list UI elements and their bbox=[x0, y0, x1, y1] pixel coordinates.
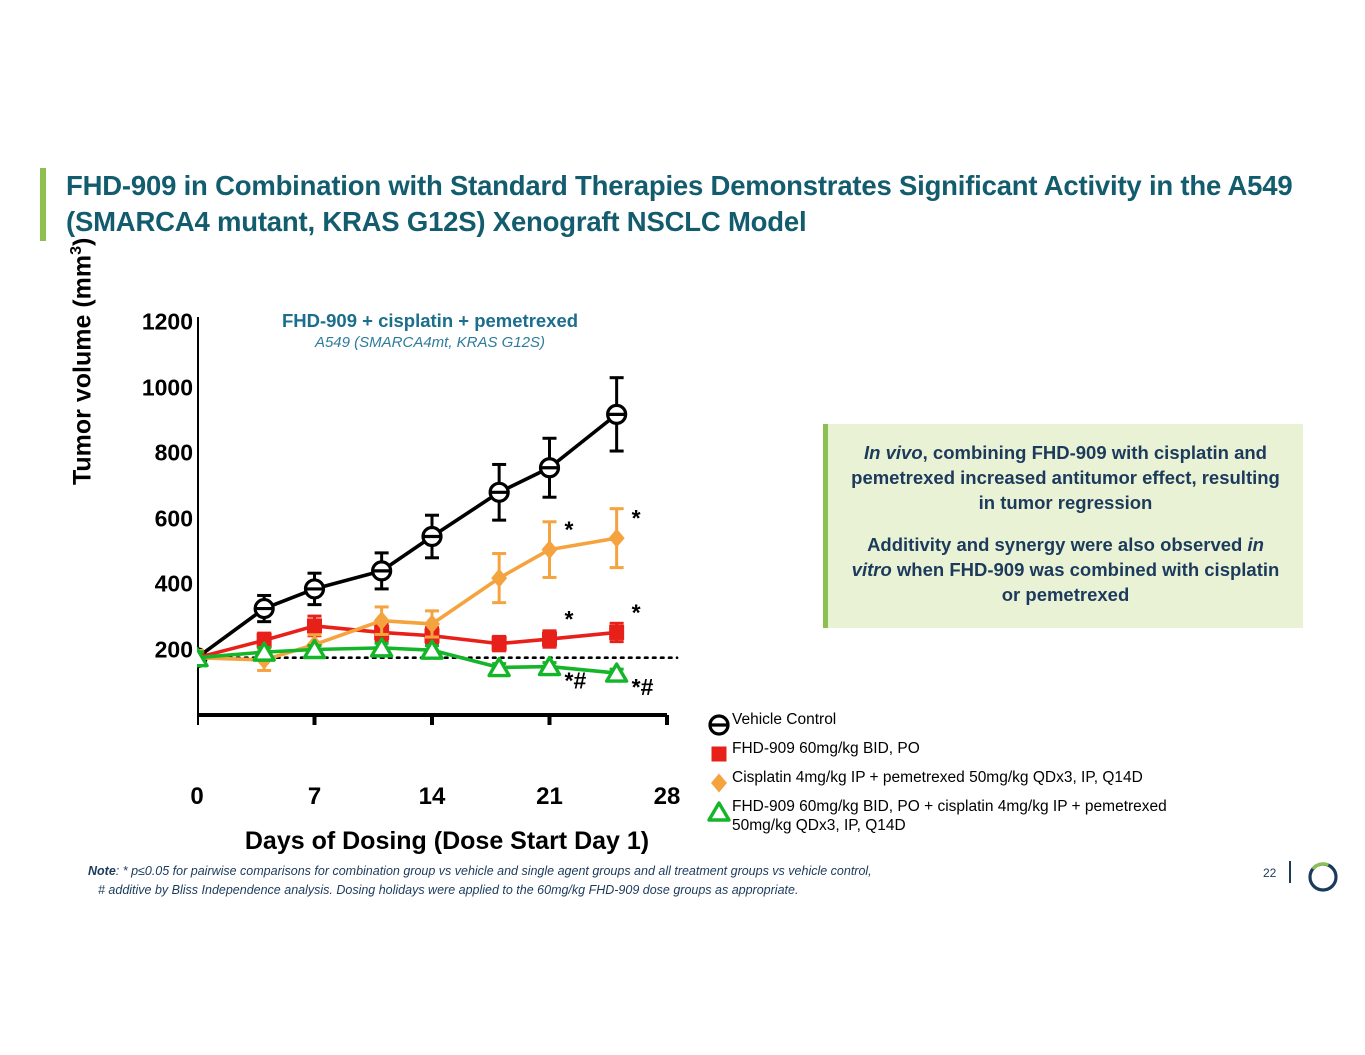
page-title: FHD-909 in Combination with Standard The… bbox=[66, 168, 1350, 241]
callout-paragraph-2-pre: Additivity and synergy were also observe… bbox=[867, 534, 1247, 555]
significance-annotation: * bbox=[632, 599, 641, 625]
chart-legend: Vehicle ControlFHD-909 60mg/kg BID, POCi… bbox=[706, 709, 1206, 836]
y-axis-tick-600: 600 bbox=[155, 505, 193, 532]
company-logo-icon bbox=[1303, 856, 1343, 896]
footnote-label: Note bbox=[88, 864, 116, 878]
callout-body: In vivo, combining FHD-909 with cisplati… bbox=[828, 424, 1303, 628]
significance-annotation: * bbox=[632, 505, 641, 531]
x-axis-tick-28: 28 bbox=[654, 783, 681, 811]
legend-item-1[interactable]: FHD-909 60mg/kg BID, PO bbox=[706, 738, 1206, 766]
tumor-volume-chart: Tumor volume (mm3) 20040060080010001200 … bbox=[70, 295, 770, 855]
y-axis-tick-labels: 20040060080010001200 bbox=[70, 295, 193, 765]
significance-annotation: *# bbox=[565, 668, 587, 694]
y-axis-tick-800: 800 bbox=[155, 440, 193, 467]
footnote-line-1: Note: * p≤0.05 for pairwise comparisons … bbox=[88, 862, 1088, 881]
footnote-line-1-text: : * p≤0.05 for pairwise comparisons for … bbox=[116, 864, 872, 878]
x-axis-label: Days of Dosing (Dose Start Day 1) bbox=[197, 827, 697, 856]
chart-plot-svg: *****#*# bbox=[197, 295, 697, 765]
legend-item-0[interactable]: Vehicle Control bbox=[706, 709, 1206, 737]
legend-item-label: FHD-909 60mg/kg BID, PO bbox=[732, 738, 920, 758]
legend-item-3[interactable]: FHD-909 60mg/kg BID, PO + cisplatin 4mg/… bbox=[706, 796, 1206, 835]
page-divider bbox=[1289, 861, 1291, 883]
significance-annotation: * bbox=[565, 517, 574, 543]
significance-annotation: *# bbox=[632, 674, 654, 700]
open-triangle-icon bbox=[706, 796, 732, 824]
y-axis-label-exponent: 3 bbox=[68, 246, 85, 255]
y-axis-tick-1200: 1200 bbox=[142, 309, 193, 336]
x-axis-tick-21: 21 bbox=[536, 783, 563, 811]
y-axis-tick-200: 200 bbox=[155, 636, 193, 663]
slide-title-block: FHD-909 in Combination with Standard The… bbox=[40, 168, 1350, 241]
key-takeaway-callout: In vivo, combining FHD-909 with cisplati… bbox=[823, 424, 1303, 628]
open-circle-icon bbox=[706, 709, 732, 737]
legend-item-label: Vehicle Control bbox=[732, 709, 836, 729]
y-axis-tick-1000: 1000 bbox=[142, 374, 193, 401]
legend-item-label: Cisplatin 4mg/kg IP + pemetrexed 50mg/kg… bbox=[732, 767, 1143, 787]
legend-item-2[interactable]: Cisplatin 4mg/kg IP + pemetrexed 50mg/kg… bbox=[706, 767, 1206, 795]
title-accent-bar bbox=[40, 168, 46, 241]
callout-paragraph-2-post: when FHD-909 was combined with cisplatin… bbox=[892, 559, 1280, 605]
legend-item-label: FHD-909 60mg/kg BID, PO + cisplatin 4mg/… bbox=[732, 796, 1206, 835]
x-axis-tick-14: 14 bbox=[419, 783, 446, 811]
callout-emphasis-in-vivo: In vivo bbox=[864, 442, 923, 463]
callout-paragraph-1: In vivo, combining FHD-909 with cisplati… bbox=[850, 441, 1281, 516]
callout-paragraph-2: Additivity and synergy were also observe… bbox=[850, 533, 1281, 608]
footnote: Note: * p≤0.05 for pairwise comparisons … bbox=[88, 862, 1088, 901]
x-axis-tick-0: 0 bbox=[190, 783, 203, 811]
y-axis-tick-400: 400 bbox=[155, 571, 193, 598]
footnote-line-2: # additive by Bliss Independence analysi… bbox=[88, 881, 1088, 900]
filled-diamond-icon bbox=[706, 767, 732, 795]
y-axis-label-close: ) bbox=[68, 238, 96, 246]
filled-square-icon bbox=[706, 738, 732, 766]
significance-annotation: * bbox=[565, 606, 574, 632]
x-axis-tick-7: 7 bbox=[308, 783, 321, 811]
page-number: 22 bbox=[1263, 866, 1276, 880]
